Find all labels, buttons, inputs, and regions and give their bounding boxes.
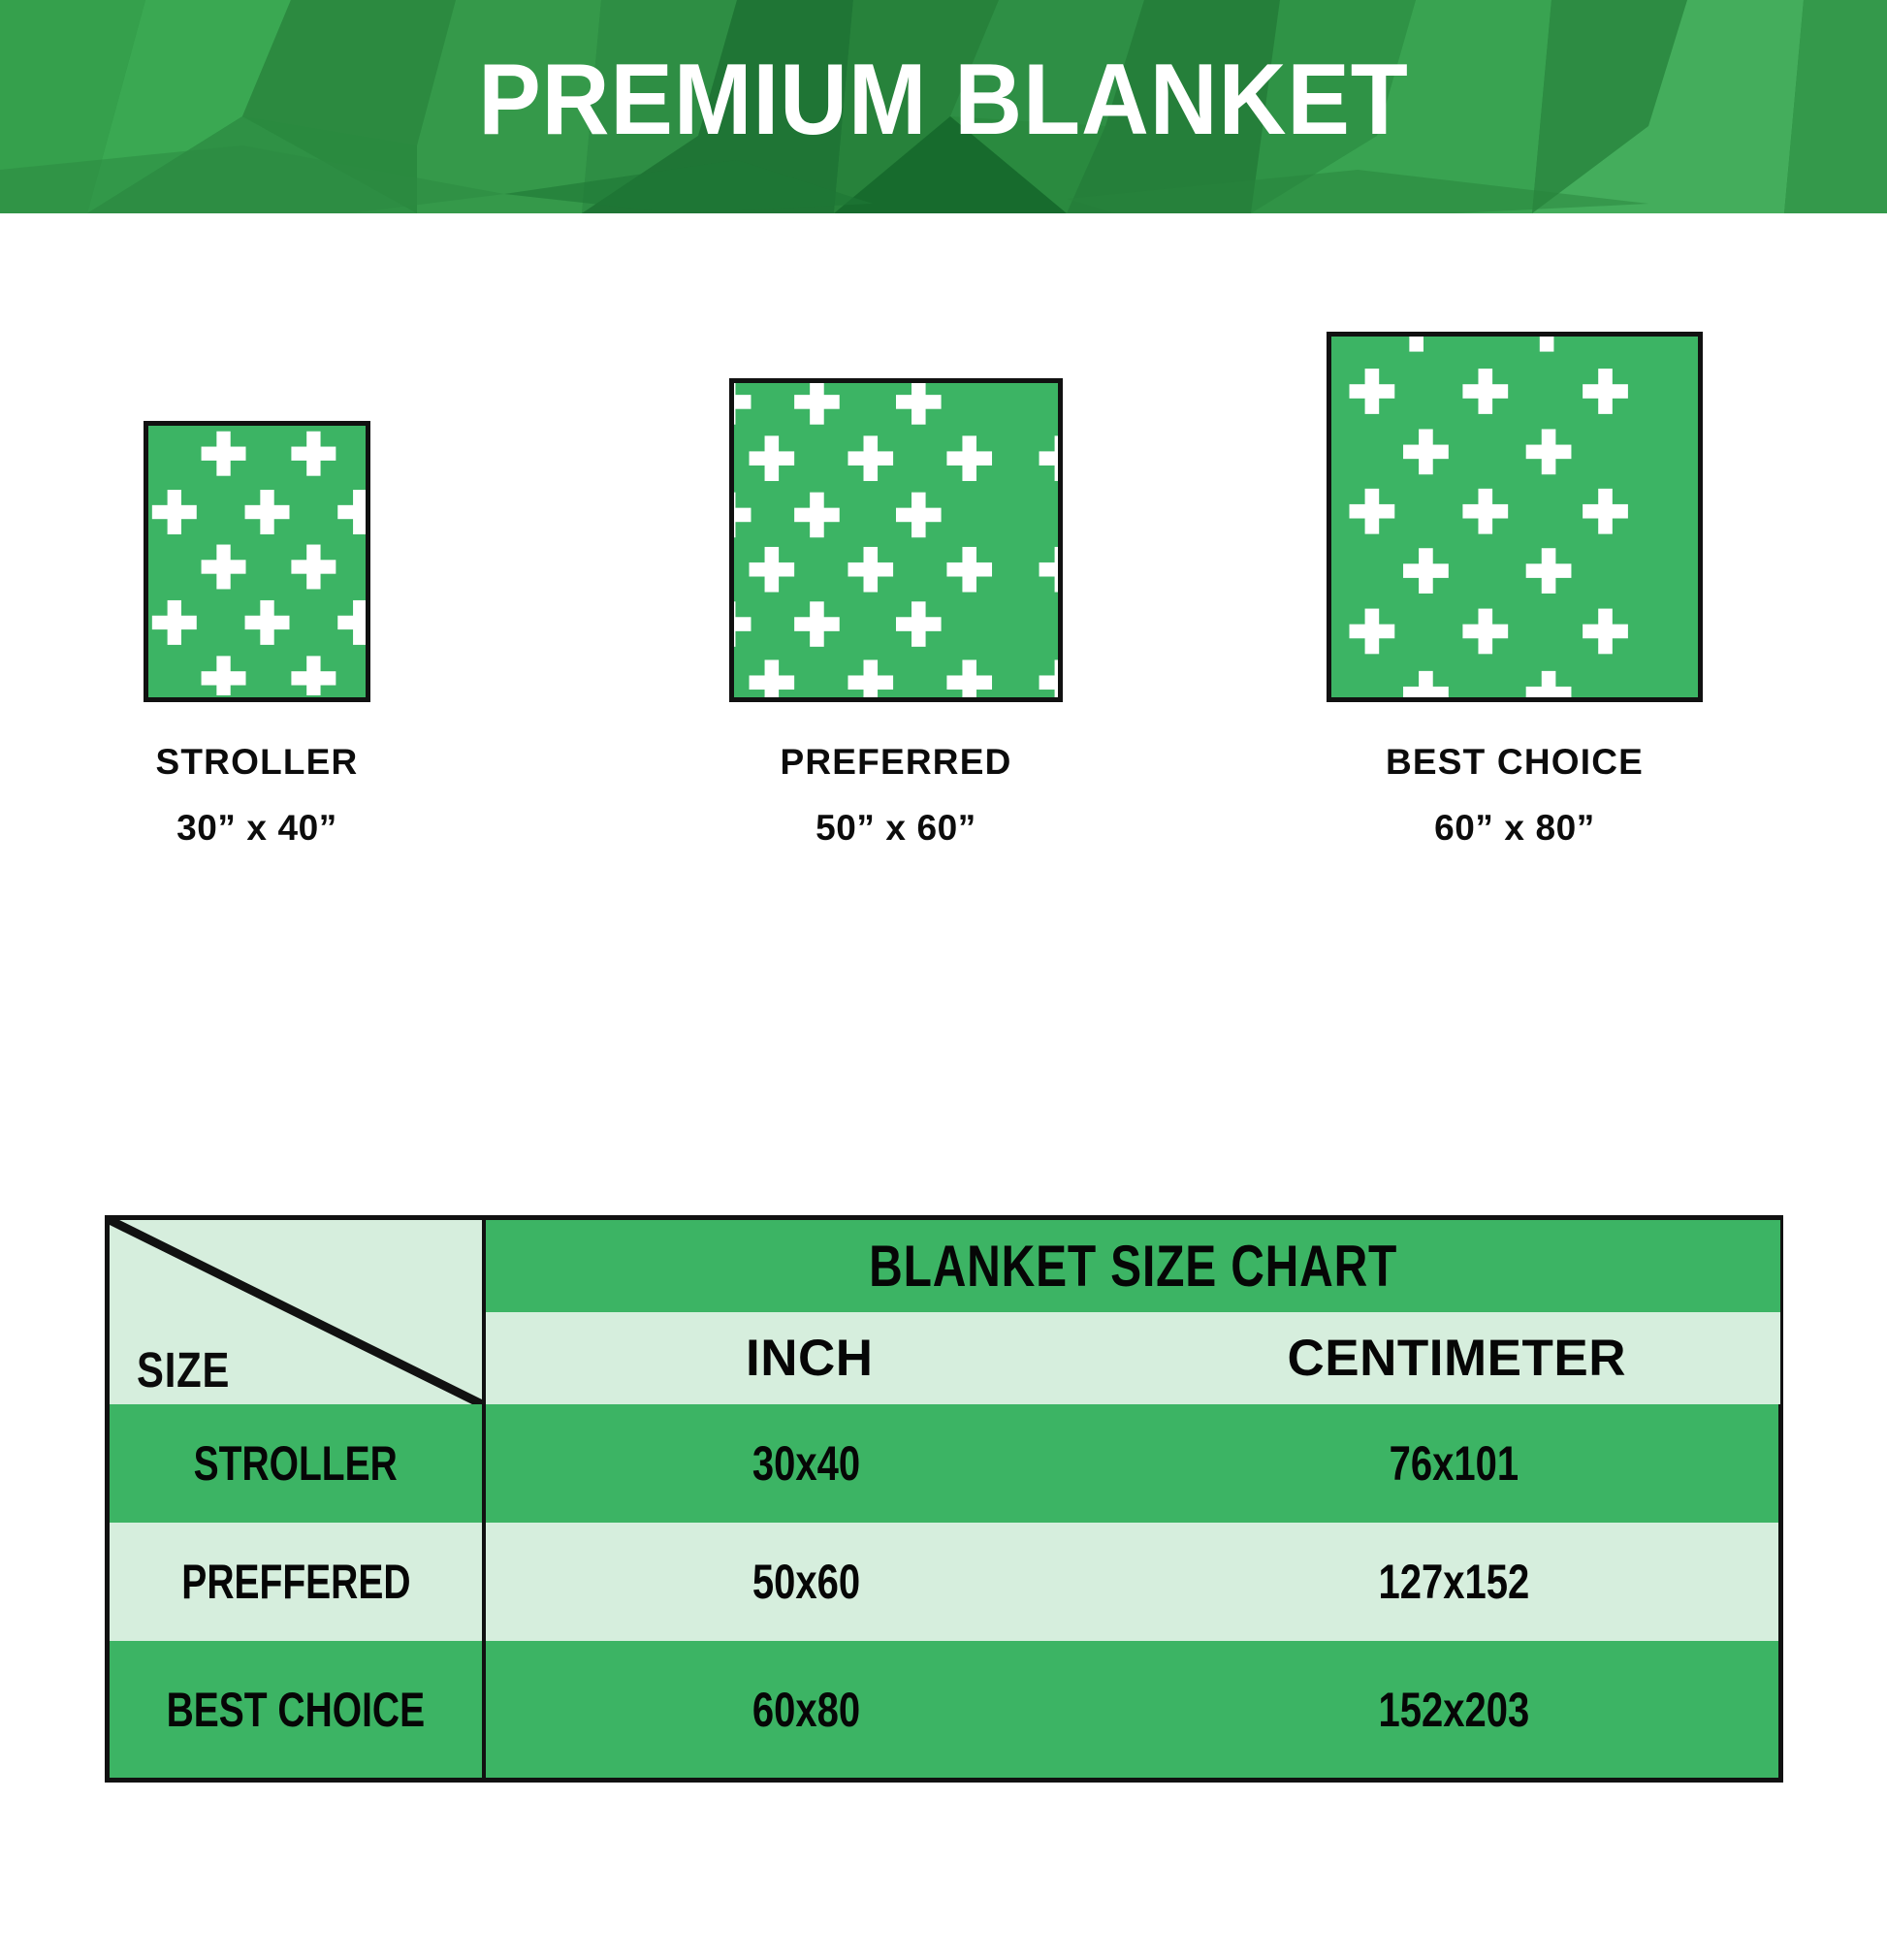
- table-row-best-choice: BEST CHOICE 60x80 152x203: [110, 1641, 1778, 1778]
- row-centimeter-stroller: 76x101: [1131, 1404, 1779, 1523]
- row-centimeter-preffered: 127x152: [1131, 1523, 1779, 1641]
- table-title-bar: BLANKET SIZE CHART: [482, 1220, 1780, 1312]
- table-corner-size-label: SIZE: [137, 1341, 230, 1398]
- swatch-dimensions-stroller: 30” x 40”: [85, 808, 429, 849]
- row-size-best-choice: BEST CHOICE: [110, 1641, 482, 1778]
- blanket-size-chart-table: SIZE BLANKET SIZE CHART INCH CENTIMETER …: [105, 1215, 1783, 1783]
- size-chart-page: PREMIUM BLANKET: [0, 0, 1887, 1960]
- blanket-swatch-preferred: [729, 378, 1063, 702]
- row-size-preffered: PREFFERED: [110, 1523, 482, 1641]
- page-title: PREMIUM BLANKET: [66, 0, 1821, 213]
- row-inch-preffered: 50x60: [482, 1523, 1131, 1641]
- row-inch-stroller: 30x40: [482, 1404, 1131, 1523]
- table-column-divider: [482, 1404, 486, 1778]
- swatch-label-preferred: PREFERRED: [676, 742, 1116, 783]
- table-row-preffered: PREFFERED 50x60 127x152: [110, 1523, 1778, 1641]
- table-unit-header-row: INCH CENTIMETER: [482, 1312, 1780, 1404]
- table-title: BLANKET SIZE CHART: [869, 1233, 1397, 1300]
- row-size-stroller: STROLLER: [110, 1404, 482, 1523]
- table-row-stroller: STROLLER 30x40 76x101: [110, 1404, 1778, 1523]
- blanket-swatch-stroller: [144, 421, 370, 702]
- blanket-swatch-best-choice: [1327, 332, 1703, 702]
- swatch-dimensions-preferred: 50” x 60”: [676, 808, 1116, 849]
- swatch-dimensions-best-choice: 60” x 80”: [1295, 808, 1735, 849]
- header-banner: PREMIUM BLANKET: [0, 0, 1887, 213]
- swatch-label-stroller: STROLLER: [85, 742, 429, 783]
- column-header-centimeter: CENTIMETER: [1134, 1312, 1781, 1404]
- column-header-inch: INCH: [486, 1312, 1134, 1404]
- swatch-gallery: STROLLER 30” x 40”: [0, 213, 1887, 1193]
- row-inch-best-choice: 60x80: [482, 1641, 1131, 1778]
- row-centimeter-best-choice: 152x203: [1131, 1641, 1779, 1778]
- cross-pattern-preferred: [734, 383, 1058, 697]
- cross-pattern-stroller: [148, 426, 366, 695]
- swatch-label-best-choice: BEST CHOICE: [1295, 742, 1735, 783]
- table-corner-cell: SIZE: [110, 1220, 482, 1404]
- cross-pattern-best-choice: [1331, 337, 1698, 697]
